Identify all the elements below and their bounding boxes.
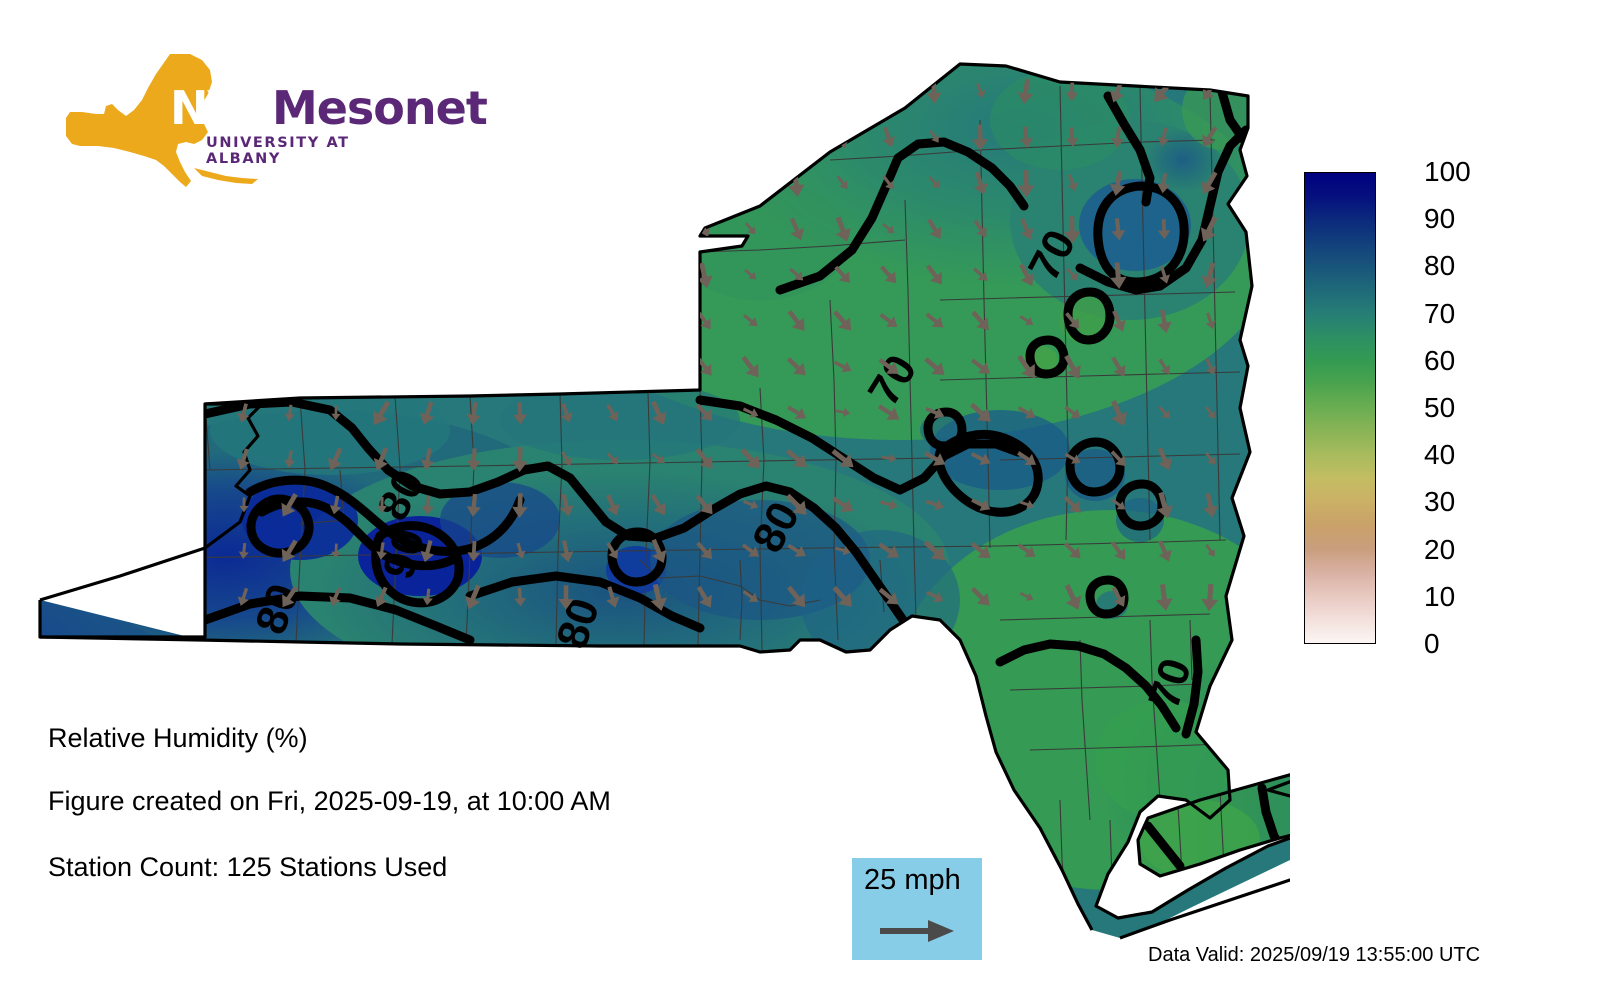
wind-arrow	[833, 78, 851, 105]
variable-title: Relative Humidity (%)	[48, 723, 308, 754]
colorbar-tick: 30	[1424, 488, 1455, 516]
wind-arrow-icon	[880, 916, 956, 946]
wind-arrow	[1249, 587, 1263, 607]
colorbar-tick: 90	[1424, 205, 1455, 233]
wind-arrow	[647, 215, 668, 244]
wind-arrow	[142, 585, 162, 610]
wind-arrow	[878, 77, 897, 106]
colorbar-tick: 100	[1424, 158, 1471, 186]
colorbar-tick-labels: 1009080706050403020100	[1386, 160, 1526, 660]
station-count: Station Count: 125 Stations Used	[48, 852, 447, 883]
colorbar-tick: 20	[1424, 536, 1455, 564]
wind-arrow	[833, 78, 851, 105]
created-timestamp: Figure created on Fri, 2025-09-19, at 10…	[48, 786, 611, 817]
wind-arrow	[647, 215, 668, 244]
colorbar	[1304, 172, 1376, 644]
colorbar-tick: 80	[1424, 252, 1455, 280]
wind-arrow	[787, 124, 804, 151]
wind-arrow	[193, 589, 203, 604]
wind-arrow	[142, 585, 162, 610]
wind-arrow	[1249, 587, 1263, 607]
wind-arrow	[742, 173, 759, 193]
wind-speed-key: 25 mph	[852, 858, 982, 960]
wind-key-label: 25 mph	[864, 864, 961, 897]
colorbar-tick: 0	[1424, 630, 1440, 658]
colorbar-tick: 10	[1424, 583, 1455, 611]
wind-arrow	[878, 77, 897, 106]
wind-arrow	[787, 124, 804, 151]
colorbar-tick: 60	[1424, 347, 1455, 375]
wind-arrow	[193, 589, 203, 604]
colorbar-gradient	[1305, 173, 1375, 643]
wind-arrow	[95, 584, 115, 611]
colorbar-tick: 40	[1424, 441, 1455, 469]
wind-arrow	[95, 584, 115, 611]
data-valid-timestamp: Data Valid: 2025/09/19 13:55:00 UTC	[1148, 944, 1480, 967]
colorbar-tick: 70	[1424, 300, 1455, 328]
colorbar-tick: 50	[1424, 394, 1455, 422]
wind-arrow	[742, 173, 759, 193]
figure-canvas: NYSMesonet UNIVERSITY AT ALBANY	[0, 0, 1600, 1000]
